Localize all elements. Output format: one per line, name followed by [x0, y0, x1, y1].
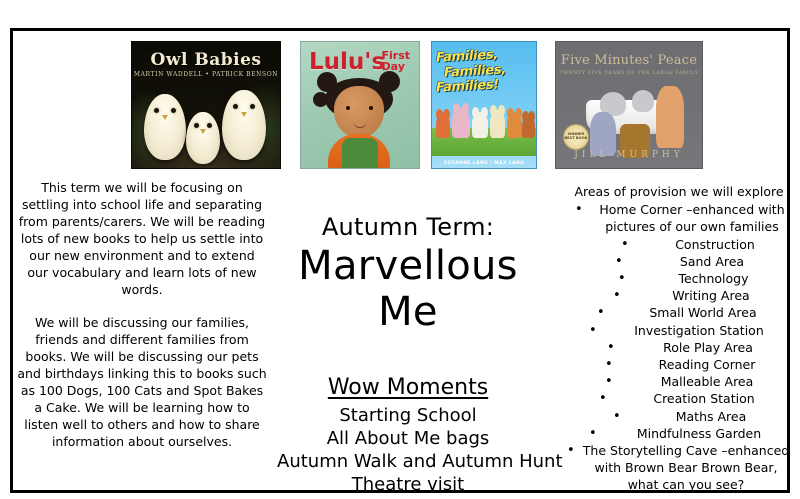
- animal-icon: [522, 116, 535, 138]
- bullet-icon: •: [599, 390, 607, 407]
- area-of-provision-item: •Creation Station: [565, 390, 793, 407]
- area-of-provision-label: Home Corner –enhanced with pictures of o…: [592, 201, 792, 235]
- area-of-provision-label: Sand Area: [637, 253, 787, 270]
- lulu-eye-icon: [346, 106, 350, 110]
- animal-icon: [490, 110, 505, 138]
- five-minutes-title: Five Minutes' Peace: [556, 53, 702, 68]
- bullet-icon: •: [575, 201, 583, 218]
- left-text-column: This term we will be focusing on settlin…: [17, 179, 267, 466]
- bullet-icon: •: [605, 356, 613, 373]
- term-label: Autumn Term:: [277, 213, 539, 241]
- area-of-provision-item: •Construction: [565, 236, 793, 253]
- owl-babies-authors: MARTIN WADDELL • PATRICK BENSON: [132, 71, 280, 78]
- bullet-icon: •: [567, 442, 575, 459]
- area-of-provision-label: Investigation Station: [610, 322, 788, 339]
- bullet-icon: •: [605, 373, 613, 390]
- elephant-mother-icon: [656, 86, 684, 148]
- wow-moment-item: Theatre visit: [277, 473, 539, 496]
- bullet-icon: •: [613, 287, 621, 304]
- area-of-provision-label: Creation Station: [622, 390, 786, 407]
- elephant-icon: [632, 90, 654, 112]
- areas-of-provision-heading: Areas of provision we will explore: [565, 183, 793, 200]
- lulu-hair-puff-icon: [379, 71, 400, 92]
- area-of-provision-item: •The Storytelling Cave –enhanced with Br…: [565, 442, 793, 494]
- area-of-provision-item: •Malleable Area: [565, 373, 793, 390]
- area-of-provision-label: Technology: [639, 270, 789, 287]
- lulu-eye-icon: [369, 106, 373, 110]
- wow-moment-item: Starting School: [277, 404, 539, 427]
- animal-icon: [436, 114, 450, 138]
- area-of-provision-item: •Technology: [565, 270, 793, 287]
- bullet-icon: •: [597, 304, 605, 321]
- lulu-face-icon: [334, 86, 384, 138]
- animal-icon: [507, 113, 522, 138]
- families-credit: SUZANNE LANG | MAX LANG: [432, 161, 536, 166]
- owl-babies-title: Owl Babies: [132, 50, 280, 70]
- area-of-provision-item: •Maths Area: [565, 408, 793, 425]
- area-of-provision-item: •Writing Area: [565, 287, 793, 304]
- book-cover-owl-babies: Owl Babies MARTIN WADDELL • PATRICK BENS…: [131, 41, 281, 169]
- book-cover-strip: Owl Babies MARTIN WADDELL • PATRICK BENS…: [125, 41, 693, 171]
- intro-paragraph-2: We will be discussing our families, frie…: [17, 314, 267, 450]
- owl-chick-icon: [144, 94, 186, 160]
- animal-icon: [452, 108, 470, 138]
- lulu-dress-icon: [342, 138, 378, 169]
- animal-icon: [472, 112, 488, 138]
- five-minutes-author: JILL MURPHY: [556, 150, 702, 160]
- owl-chick-icon: [186, 112, 220, 164]
- bullet-icon: •: [615, 253, 623, 270]
- area-of-provision-label: Mindfulness Garden: [611, 425, 787, 442]
- area-of-provision-label: Construction: [640, 236, 790, 253]
- area-of-provision-item: •Small World Area: [565, 304, 793, 321]
- area-of-provision-label: Maths Area: [635, 408, 787, 425]
- owl-chick-icon: [222, 90, 266, 160]
- wow-moment-item: Autumn Walk and Autumn Hunt: [277, 450, 539, 473]
- area-of-provision-item: •Home Corner –enhanced with pictures of …: [565, 201, 793, 235]
- areas-of-provision-list: •Home Corner –enhanced with pictures of …: [565, 201, 793, 493]
- area-of-provision-item: •Reading Corner: [565, 356, 793, 373]
- wow-moments-heading: Wow Moments: [277, 375, 539, 400]
- intro-paragraph-1: This term we will be focusing on settlin…: [17, 179, 267, 298]
- bullet-icon: •: [589, 425, 597, 442]
- bullet-icon: •: [613, 408, 621, 425]
- area-of-provision-item: •Investigation Station: [565, 322, 793, 339]
- area-of-provision-label: Role Play Area: [630, 339, 786, 356]
- lulu-hair-puff-icon: [317, 72, 337, 92]
- area-of-provision-item: •Sand Area: [565, 253, 793, 270]
- area-of-provision-label: Writing Area: [635, 287, 787, 304]
- book-cover-five-minutes-peace: Five Minutes' Peace TWENTY FIVE YEARS OF…: [555, 41, 703, 169]
- book-cover-families: Families, Families, Families! SUZANNE LA…: [431, 41, 537, 169]
- page-title: Marvellous Me: [277, 243, 539, 335]
- area-of-provision-item: •Role Play Area: [565, 339, 793, 356]
- area-of-provision-label: Malleable Area: [628, 373, 786, 390]
- bullet-icon: •: [621, 236, 629, 253]
- lulu-title-small: First Day: [381, 50, 410, 72]
- book-cover-lulus-first-day: Lulu's First Day: [300, 41, 420, 169]
- area-of-provision-label: Reading Corner: [628, 356, 786, 373]
- area-of-provision-label: Small World Area: [620, 304, 786, 321]
- center-column: Autumn Term: Marvellous Me Wow Moments S…: [277, 213, 539, 496]
- lulu-title-main: Lulu's: [309, 49, 385, 75]
- five-minutes-subtitle: TWENTY FIVE YEARS OF THE LARGE FAMILY: [556, 70, 702, 76]
- wow-moments-list: Starting School All About Me bags Autumn…: [277, 404, 539, 496]
- award-badge: WINNER BEST BOOK: [563, 124, 589, 150]
- wow-moment-item: All About Me bags: [277, 427, 539, 450]
- lulu-title-day: Day: [381, 61, 410, 72]
- lulu-hair-puff-icon: [313, 92, 328, 107]
- area-of-provision-label: The Storytelling Cave –enhanced with Bro…: [582, 442, 790, 494]
- bullet-icon: •: [589, 322, 597, 339]
- poster-page: Owl Babies MARTIN WADDELL • PATRICK BENS…: [10, 28, 790, 493]
- area-of-provision-item: •Mindfulness Garden: [565, 425, 793, 442]
- right-column: Areas of provision we will explore •Home…: [565, 183, 793, 494]
- bullet-icon: •: [607, 339, 615, 356]
- bullet-icon: •: [618, 270, 626, 287]
